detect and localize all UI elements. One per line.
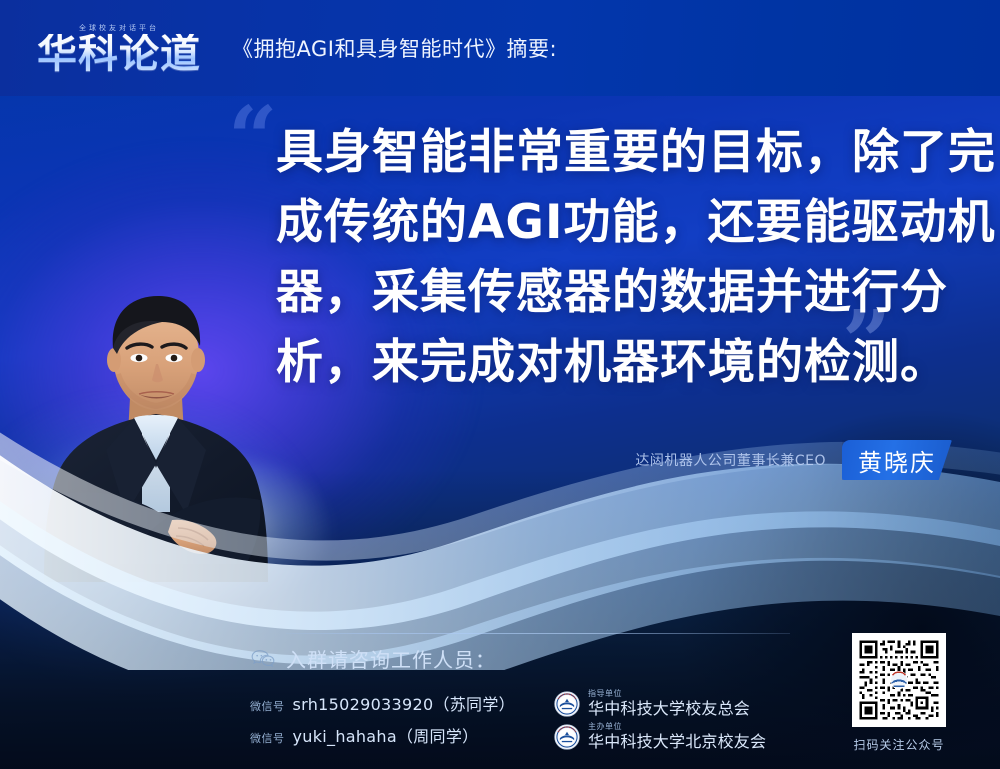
university-seal-icon xyxy=(554,724,580,750)
brand-logo-subtitle: 全球校友对话平台 xyxy=(79,23,159,33)
organizer-kind: 指导单位 xyxy=(588,689,750,699)
speaker-name-badge: 黄晓庆 xyxy=(842,440,952,480)
brand-logo-title: 华科论道 xyxy=(37,34,201,74)
brand-logo: 全球校友对话平台 华科论道 xyxy=(24,16,214,80)
qr-code[interactable] xyxy=(852,633,946,727)
poster-canvas: 全球校友对话平台 华科论道 《拥抱AGI和具身智能时代》摘要: “ ” 具身智能… xyxy=(0,0,1000,769)
quote-line: 具身智能非常重要的目标，除了完 xyxy=(276,118,944,188)
footer-contact-block: 入群请咨询工作人员： 微信号 srh15029033920（苏同学） 微信号 y… xyxy=(250,644,810,751)
list-item: 主办单位 华中科技大学北京校友会 xyxy=(554,722,766,751)
organizer-list: 指导单位 华中科技大学校友总会 xyxy=(554,683,766,751)
footer-rows: 微信号 srh15029033920（苏同学） 微信号 yuki_hahaha（… xyxy=(250,683,810,751)
quote-line: 析，来完成对机器环境的检测。 xyxy=(276,328,944,398)
organizer-kind: 主办单位 xyxy=(588,722,766,732)
wechat-id[interactable]: yuki_hahaha（周同学） xyxy=(293,723,479,747)
quote-line: 器，采集传感器的数据并进行分 xyxy=(276,258,944,328)
qr-block: 扫码关注公众号 xyxy=(843,633,955,753)
list-item: 微信号 srh15029033920（苏同学） xyxy=(250,691,530,715)
list-item: 指导单位 华中科技大学校友总会 xyxy=(554,689,766,718)
quote-text: 具身智能非常重要的目标，除了完 成传统的AGI功能，还要能驱动机 器，采集传感器… xyxy=(276,118,944,398)
organizer-name: 华中科技大学校友总会 xyxy=(588,699,750,718)
wechat-label: 微信号 xyxy=(250,730,285,746)
wechat-label: 微信号 xyxy=(250,698,285,714)
university-seal-icon xyxy=(554,691,580,717)
organizer-text: 指导单位 华中科技大学校友总会 xyxy=(588,689,750,718)
quote-open-mark: “ xyxy=(228,96,277,182)
wechat-id[interactable]: srh15029033920（苏同学） xyxy=(293,691,515,715)
poster-header: 全球校友对话平台 华科论道 《拥抱AGI和具身智能时代》摘要: xyxy=(0,0,1000,96)
speaker-attribution: 达闼机器人公司董事长兼CEO 黄晓庆 xyxy=(635,440,952,480)
list-item: 微信号 yuki_hahaha（周同学） xyxy=(250,723,530,747)
organizer-text: 主办单位 华中科技大学北京校友会 xyxy=(588,722,766,751)
qr-caption: 扫码关注公众号 xyxy=(843,736,955,753)
wechat-contacts: 微信号 srh15029033920（苏同学） 微信号 yuki_hahaha（… xyxy=(250,683,530,751)
organizer-name: 华中科技大学北京校友会 xyxy=(588,732,766,751)
page-title: 《拥抱AGI和具身智能时代》摘要: xyxy=(232,33,557,63)
footer-title: 入群请咨询工作人员： xyxy=(286,644,496,673)
footer-heading: 入群请咨询工作人员： xyxy=(250,644,810,673)
quote-line: 成传统的AGI功能，还要能驱动机 xyxy=(276,188,944,258)
speaker-role: 达闼机器人公司董事长兼CEO xyxy=(635,450,826,470)
wechat-icon xyxy=(250,649,276,669)
footer-divider xyxy=(286,633,790,634)
